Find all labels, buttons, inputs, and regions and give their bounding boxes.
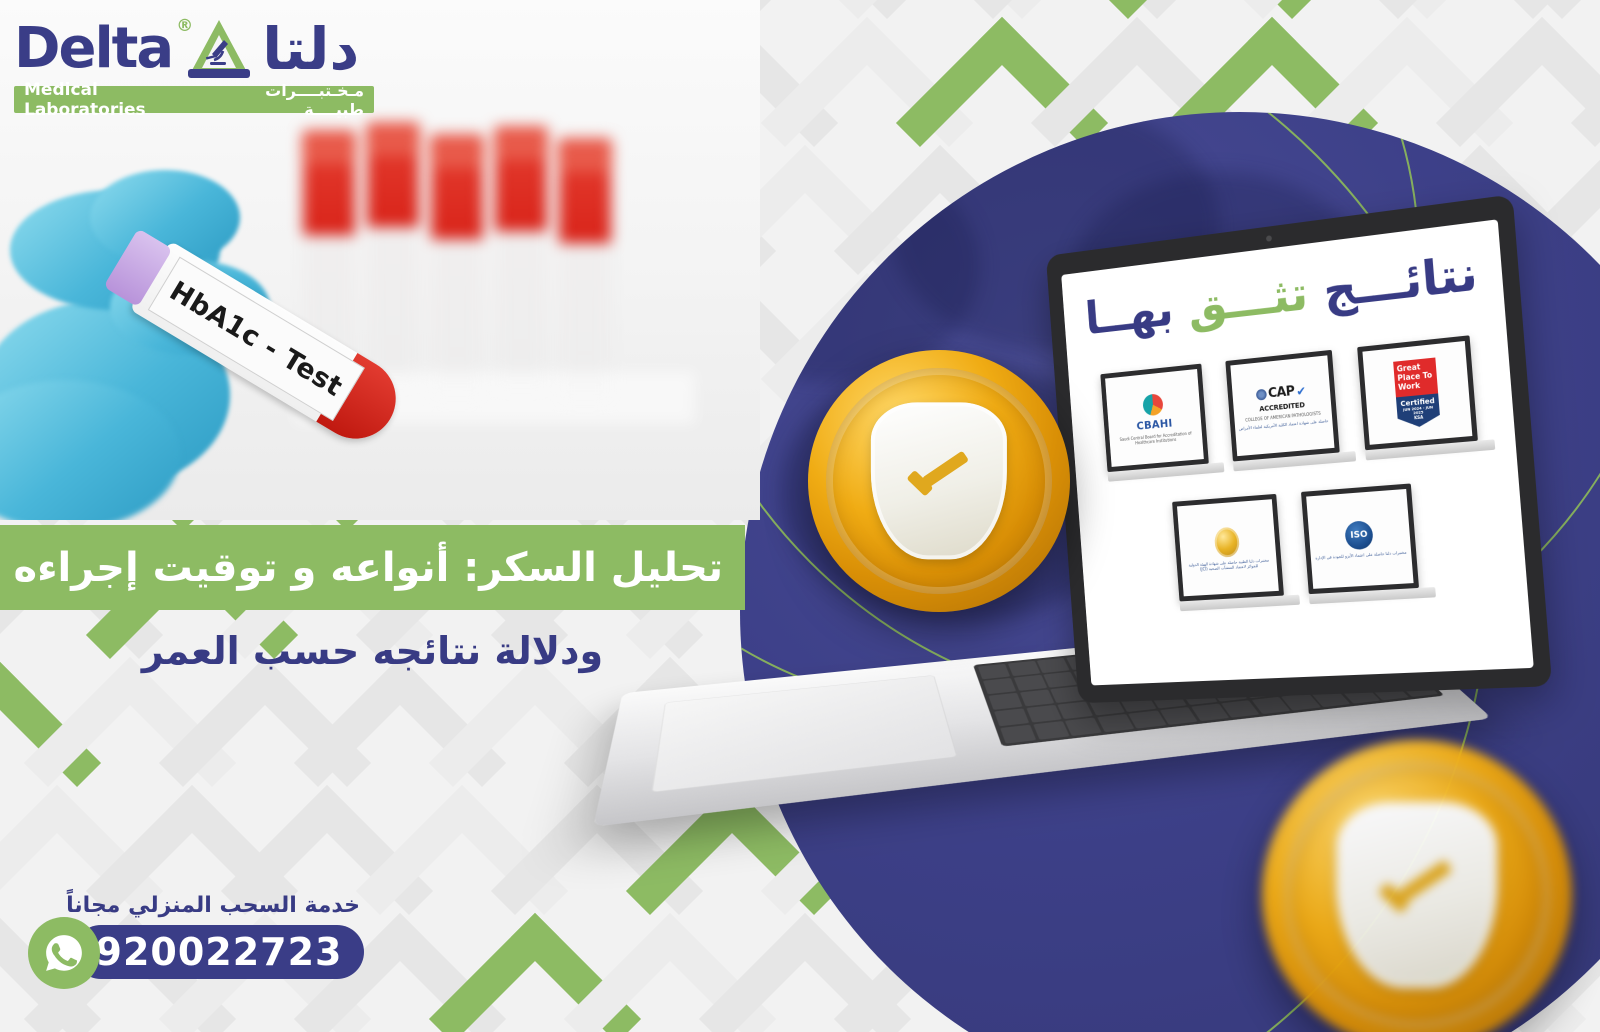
microscope-triangle-icon: ® [182,18,256,80]
certification-row-top: CBAHI Saudi Central Board for Accreditat… [1081,333,1502,483]
keyboard-key [1037,658,1070,673]
keyboard-key [1019,689,1054,706]
headline-sub: ودلالة نتائجه حسب العمر [0,612,745,690]
laptop-screen: نتائـــج تثـــق بهــا CBAHI Saudi Centra… [1061,219,1534,685]
cap-logo-icon [1255,389,1266,401]
keyboard-key [1057,701,1093,719]
logo-tagline-ar: مـخـتبــــرات طبيــــة [211,81,364,119]
headline-line1: تحليل السكر: أنواعه و توقيت إجراءه [13,545,723,591]
cert-iso: ISO مختبرات دلتا حاصلة على اعتماد الأيزو… [1301,483,1420,604]
webcam-icon [1266,235,1272,242]
headline-line2: ودلالة نتائجه حسب العمر [142,629,603,673]
contact-block[interactable]: خدمة السحب المنزلي مجاناً 920022723 [28,893,368,989]
logo-name-en: Delta [14,21,172,77]
keyboard-key [1013,675,1047,691]
cert-cap-name: CAP [1268,384,1295,401]
cert-iso-sub: مختبرات دلتا حاصلة على اعتماد الأيزو للج… [1315,550,1406,561]
certification-row-bottom: مختبرات دلتا الطبية حاصلة على شهادة الهي… [1091,476,1513,615]
keyboard-key [1043,672,1077,688]
cert-gptw: Great Place To Work Certified JUN 2024 -… [1357,335,1479,460]
keyboard-key [1026,705,1062,723]
certification-grid: CBAHI Saudi Central Board for Accreditat… [1081,333,1515,641]
keyboard-key [1000,724,1036,743]
trust-coin-badge [808,350,1070,612]
whatsapp-icon[interactable] [28,917,100,989]
check-icon: ✔ [1296,383,1307,398]
cert-award: مختبرات دلتا الطبية حاصلة على شهادة الهي… [1172,494,1285,611]
cert-cbahi-name: CBAHI [1136,416,1173,432]
screen-headline-part1: نتائـــج [1321,245,1479,319]
keyboard-key [1007,661,1040,677]
headline-band: تحليل السكر: أنواعه و توقيت إجراءه [0,525,745,610]
screen-headline-part2: تثـــق [1186,266,1310,334]
keyboard-key [983,678,1016,694]
keyboard-key [1033,721,1070,740]
gold-medal-icon [1214,526,1240,557]
laptop-trackpad [651,675,957,793]
keyboard-key [994,708,1029,726]
cert-cbahi: CBAHI Saudi Central Board for Accreditat… [1100,364,1209,482]
screen-headline: نتائـــج تثـــق بهــا [1063,242,1504,348]
cbahi-logo-icon [1142,393,1163,416]
gptw-badge-icon: Great Place To Work Certified JUN 2024 -… [1393,358,1440,429]
iso-badge-icon: ISO [1344,520,1374,550]
keyboard-key [1097,714,1134,733]
poster-canvas: HbA1c - Test Delta ® دلتا Medical [0,0,1600,1032]
phone-number: 920022723 [96,930,343,974]
keyboard-key [1065,717,1102,736]
keyboard-key [988,693,1022,710]
keyboard-key [978,664,1010,680]
cert-award-sub: مختبرات دلتا الطبية حاصلة على شهادة الهي… [1185,557,1273,572]
cert-gptw-name: Great Place To Work [1393,358,1438,397]
logo-name-ar: دلتا [262,20,359,78]
cert-cbahi-sub-en: Saudi Central Board for Accreditation of… [1113,429,1199,446]
logo-tagline-en: Medical Laboratories [24,80,211,120]
phone-number-pill[interactable]: 920022723 [74,925,364,979]
shield-check-icon [871,402,1007,559]
brand-logo: Delta ® دلتا Medical Laboratories مـخـتب… [14,14,374,114]
shield-check-icon-blurred [1336,802,1497,988]
laptop-lid: نتائـــج تثـــق بهــا CBAHI Saudi Centra… [1046,194,1552,703]
logo-tagline-band: Medical Laboratories مـخـتبــــرات طبيــ… [14,86,374,113]
home-service-label: خدمة السحب المنزلي مجاناً [66,893,360,918]
microscope-icon [204,38,234,70]
screen-headline-part3: بهــا [1083,283,1175,346]
trust-coin-badge-blurred [1262,740,1572,1032]
cert-cap: CAP ✔ ACCREDITED COLLEGE OF AMERICAN PAT… [1225,350,1340,472]
cert-cap-accredited: ACCREDITED [1259,401,1305,413]
